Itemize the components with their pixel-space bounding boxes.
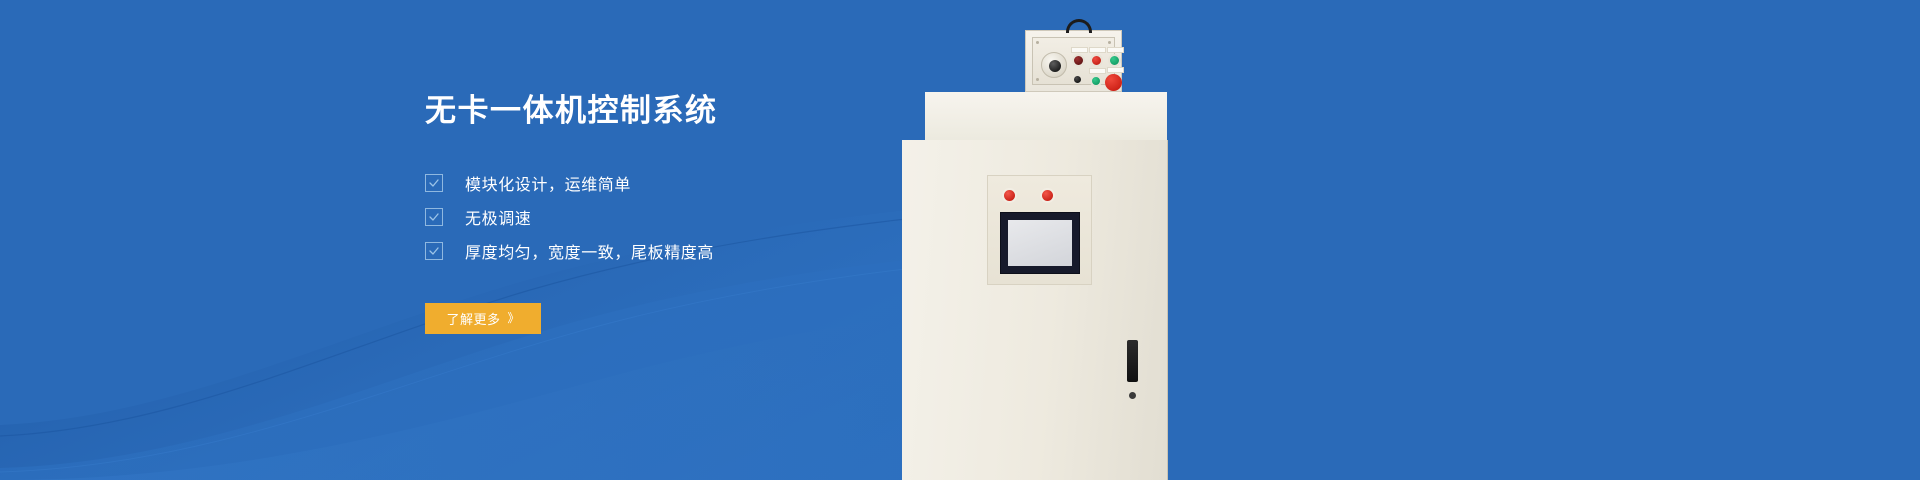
cable-icon: [1066, 19, 1092, 33]
feature-item-1: 模块化设计，运维简单: [425, 171, 985, 195]
cabinet-door-handle[interactable]: [1127, 340, 1138, 382]
button-tag-label: [1089, 47, 1106, 53]
button-green-2[interactable]: [1090, 75, 1102, 87]
control-panel-face: [1032, 37, 1115, 85]
checkbox-checked-icon: [425, 208, 443, 226]
button-tag-label: [1107, 67, 1124, 73]
indicator-lamp-right: [1040, 188, 1055, 203]
learn-more-button[interactable]: 了解更多 》: [425, 303, 541, 334]
feature-label: 模块化设计，运维简单: [465, 171, 631, 195]
screw-icon: [1036, 78, 1039, 81]
checkbox-checked-icon: [425, 174, 443, 192]
screw-icon: [1108, 41, 1111, 44]
feature-label: 厚度均匀，宽度一致，尾板精度高: [465, 239, 714, 263]
control-panel-box: [1025, 30, 1122, 92]
hmi-display-surface: [1008, 220, 1072, 266]
button-tag-label: [1107, 47, 1124, 53]
banner-copy: 无卡一体机控制系统 模块化设计，运维简单 无极调速: [425, 92, 985, 334]
feature-list: 模块化设计，运维简单 无极调速 厚度均匀，宽度一致，尾板精度高: [425, 171, 985, 263]
checkbox-checked-icon: [425, 242, 443, 260]
hero-banner: 无卡一体机控制系统 模块化设计，运维简单 无极调速: [0, 0, 1920, 480]
learn-more-label: 了解更多: [446, 309, 500, 328]
feature-item-3: 厚度均匀，宽度一致，尾板精度高: [425, 239, 985, 263]
hmi-touchscreen[interactable]: [1000, 212, 1080, 274]
cabinet-door-lock[interactable]: [1129, 392, 1136, 399]
indicator-lamp-left: [1002, 188, 1017, 203]
rotary-selector-knob[interactable]: [1041, 52, 1067, 78]
feature-item-2: 无极调速: [425, 205, 985, 229]
feature-label: 无极调速: [465, 205, 531, 229]
button-tag-label: [1089, 68, 1106, 74]
screw-icon: [1036, 41, 1039, 44]
button-red[interactable]: [1090, 54, 1103, 67]
button-dark-red[interactable]: [1072, 54, 1085, 67]
emergency-stop[interactable]: [1105, 74, 1122, 91]
button-tag-label: [1071, 47, 1088, 53]
button-black-small[interactable]: [1074, 76, 1081, 83]
chevron-right-icon: 》: [508, 312, 520, 324]
button-green[interactable]: [1108, 54, 1121, 67]
page-title: 无卡一体机控制系统: [425, 92, 985, 131]
